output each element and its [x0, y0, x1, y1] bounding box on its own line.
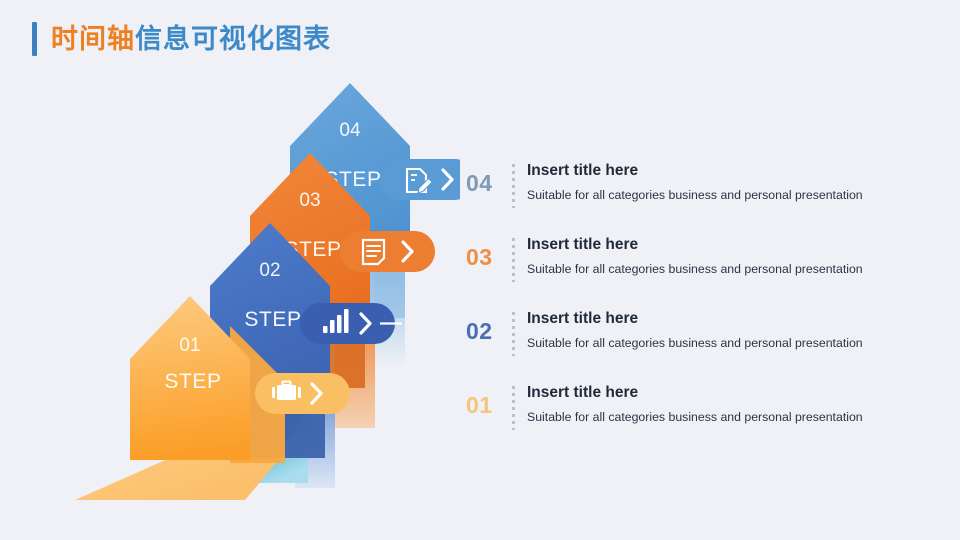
dotted-divider [512, 238, 515, 282]
list-item[interactable]: 04 Insert title here Suitable for all ca… [466, 160, 936, 234]
list-item-number: 04 [466, 170, 504, 197]
list-item-number: 03 [466, 244, 504, 271]
step-03-badge-pill [340, 231, 435, 272]
dotted-divider [512, 164, 515, 208]
list-item-body: Insert title here Suitable for all categ… [527, 382, 936, 425]
step-03-number: 03 [299, 190, 320, 211]
list-item-description: Suitable for all categories business and… [527, 187, 936, 204]
list-item-description: Suitable for all categories business and… [527, 261, 936, 278]
dotted-divider [512, 312, 515, 356]
list-item-title: Insert title here [527, 308, 936, 330]
step-base-plate [75, 458, 280, 500]
title-text: 时间轴信息可视化图表 [51, 26, 331, 53]
step-02-number: 02 [259, 260, 280, 281]
list-item-body: Insert title here Suitable for all categ… [527, 160, 936, 203]
step-04-badge-pill [380, 159, 460, 200]
step-badge-02[interactable] [300, 303, 402, 344]
list-item-description: Suitable for all categories business and… [527, 409, 936, 426]
dotted-divider [512, 386, 515, 430]
step-01-badge-pill [255, 373, 350, 414]
title-accent-bar [32, 22, 37, 56]
list-item-title: Insert title here [527, 234, 936, 256]
list-item-body: Insert title here Suitable for all categ… [527, 234, 936, 277]
steps-diagram: 04 STEP 03 STEP [50, 68, 460, 518]
list-item-title: Insert title here [527, 382, 936, 404]
list-item-description: Suitable for all categories business and… [527, 335, 936, 352]
page-title: 时间轴信息可视化图表 [32, 22, 331, 56]
list-item-body: Insert title here Suitable for all categ… [527, 308, 936, 351]
step-badge-01[interactable] [255, 373, 350, 414]
step-01-label: STEP [164, 370, 221, 393]
step-badge-03[interactable] [340, 231, 435, 272]
title-part-blue: 信息可视化图表 [135, 24, 331, 54]
list-item[interactable]: 01 Insert title here Suitable for all ca… [466, 382, 936, 456]
title-part-orange: 时间轴 [51, 24, 135, 54]
step-01-number: 01 [179, 335, 200, 356]
list-item[interactable]: 02 Insert title here Suitable for all ca… [466, 308, 936, 382]
list-item-number: 02 [466, 318, 504, 345]
list-item-number: 01 [466, 392, 504, 419]
step-04-number: 04 [339, 120, 361, 141]
slide-canvas: 时间轴信息可视化图表 [0, 0, 960, 540]
step-badge-04[interactable] [380, 159, 460, 200]
steps-detail-list: 04 Insert title here Suitable for all ca… [466, 160, 936, 456]
list-item-title: Insert title here [527, 160, 936, 182]
step-02-label: STEP [244, 308, 301, 331]
list-item[interactable]: 03 Insert title here Suitable for all ca… [466, 234, 936, 308]
